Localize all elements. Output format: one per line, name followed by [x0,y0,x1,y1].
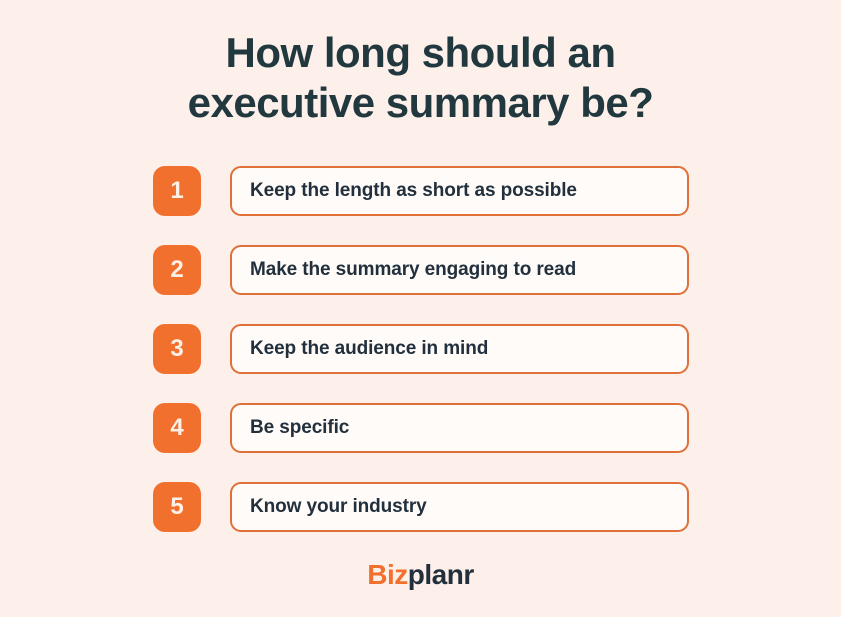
list-item: 5 Know your industry [153,482,689,532]
tip-card: Be specific [230,403,689,453]
tip-card: Keep the length as short as possible [230,166,689,216]
tip-card: Know your industry [230,482,689,532]
list-item: 3 Keep the audience in mind [153,324,689,374]
tip-label: Know your industry [250,496,427,518]
brand-logo-planr: planr [408,559,474,590]
tip-label: Be specific [250,417,349,439]
tip-number-badge: 4 [153,403,201,453]
brand-logo-biz: Biz [367,559,408,590]
list-item: 2 Make the summary engaging to read [153,245,689,295]
tip-label: Make the summary engaging to read [250,259,576,281]
tip-label: Keep the audience in mind [250,338,488,360]
tip-number-badge: 1 [153,166,201,216]
list-item: 1 Keep the length as short as possible [153,166,689,216]
tip-label: Keep the length as short as possible [250,180,577,202]
title-line-1: How long should an [0,28,841,78]
list-item: 4 Be specific [153,403,689,453]
tip-card: Make the summary engaging to read [230,245,689,295]
title-line-2: executive summary be? [0,78,841,128]
tip-number-badge: 3 [153,324,201,374]
tip-card: Keep the audience in mind [230,324,689,374]
tips-list: 1 Keep the length as short as possible 2… [153,166,689,532]
brand-logo: Bizplanr [0,558,841,592]
tip-number-badge: 5 [153,482,201,532]
page-title: How long should an executive summary be? [0,28,841,128]
tip-number-badge: 2 [153,245,201,295]
infographic-page: How long should an executive summary be?… [0,0,841,617]
